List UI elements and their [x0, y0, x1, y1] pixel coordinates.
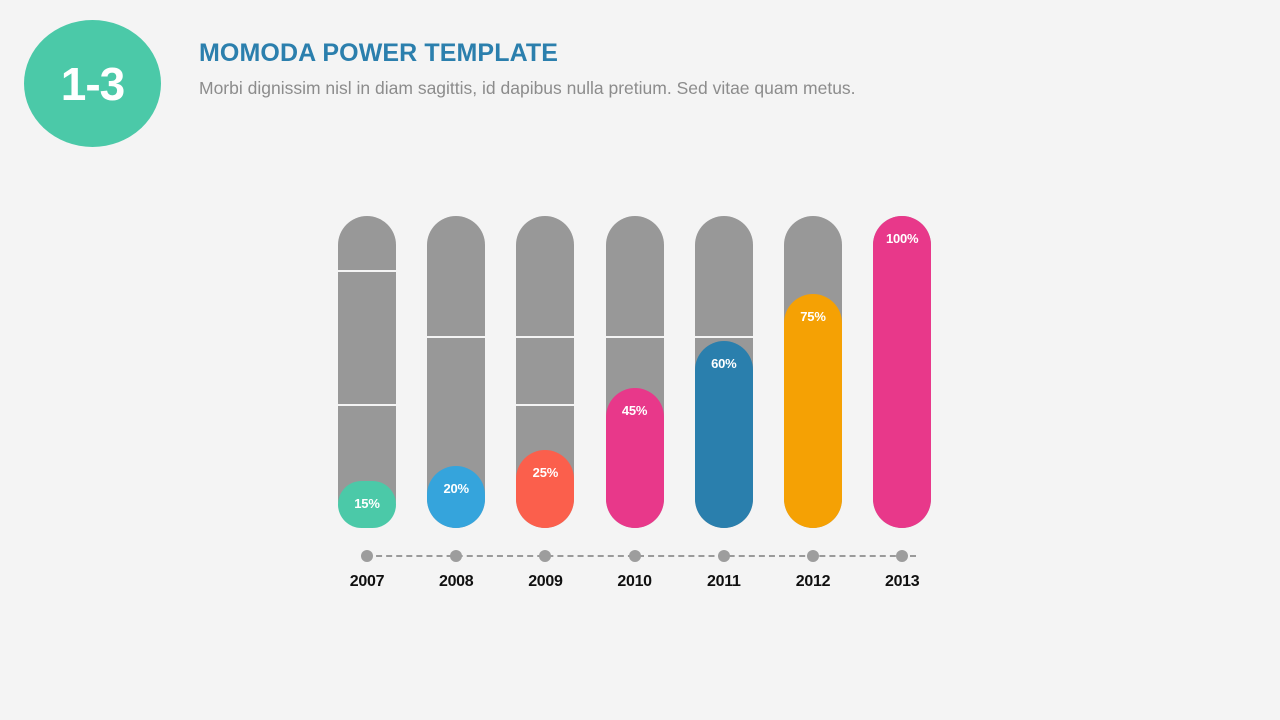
bar-track-divider: [695, 336, 753, 338]
bar-fill[interactable]: 25%: [516, 450, 574, 528]
timeline-year-label: 2012: [784, 574, 842, 590]
timeline-node-2008[interactable]: 2008: [427, 550, 485, 590]
timeline-year-label: 2009: [516, 574, 574, 590]
bar-fill[interactable]: 100%: [873, 216, 931, 528]
chart-column[interactable]: 75%: [784, 216, 842, 528]
timeline-year-label: 2011: [695, 574, 753, 590]
timeline-dot-icon: [629, 550, 641, 562]
bar-track-divider: [338, 404, 396, 406]
timeline-node-2007[interactable]: 2007: [338, 550, 396, 590]
page-title: MOMODA POWER TEMPLATE: [199, 40, 1239, 68]
bar-value-label: 15%: [354, 497, 379, 528]
page-subtitle: Morbi dignissim nisl in diam sagittis, i…: [199, 78, 1239, 99]
bar-value-label: 45%: [622, 404, 647, 528]
timeline-node-2010[interactable]: 2010: [606, 550, 664, 590]
bar-track-divider: [516, 336, 574, 338]
bar-value-label: 25%: [533, 466, 558, 528]
timeline-node-2012[interactable]: 2012: [784, 550, 842, 590]
bar-track-divider: [427, 336, 485, 338]
timeline-dot-icon: [361, 550, 373, 562]
timeline-dot-icon: [539, 550, 551, 562]
header: 1-3 MOMODA POWER TEMPLATE Morbi dignissi…: [0, 0, 1280, 170]
bar-fill[interactable]: 75%: [784, 294, 842, 528]
chart-column[interactable]: 15%: [338, 216, 396, 528]
timeline-year-label: 2007: [338, 574, 396, 590]
section-number-badge: 1-3: [24, 20, 161, 147]
bar-fill[interactable]: 20%: [427, 466, 485, 528]
bar-fill[interactable]: 15%: [338, 481, 396, 528]
bar-fill[interactable]: 60%: [695, 341, 753, 528]
bar-value-label: 20%: [443, 482, 468, 528]
bar-track-divider: [516, 404, 574, 406]
timeline-axis: 2007200820092010201120122013: [330, 550, 950, 600]
chart-column[interactable]: 60%: [695, 216, 753, 528]
timeline-node-2011[interactable]: 2011: [695, 550, 753, 590]
chart-column[interactable]: 20%: [427, 216, 485, 528]
progress-bar-chart: 15%20%25%45%60%75%100% 20072008200920102…: [330, 210, 950, 600]
timeline-year-label: 2010: [606, 574, 664, 590]
chart-column[interactable]: 25%: [516, 216, 574, 528]
timeline-node-2013[interactable]: 2013: [873, 550, 931, 590]
timeline-year-label: 2013: [873, 574, 931, 590]
timeline-dot-icon: [450, 550, 462, 562]
timeline-year-label: 2008: [427, 574, 485, 590]
timeline-dot-icon: [807, 550, 819, 562]
bar-value-label: 100%: [886, 232, 918, 528]
bar-track-divider: [606, 336, 664, 338]
bar-fill[interactable]: 45%: [606, 388, 664, 528]
bar-value-label: 75%: [800, 310, 825, 528]
timeline-node-2009[interactable]: 2009: [516, 550, 574, 590]
header-text-block: MOMODA POWER TEMPLATE Morbi dignissim ni…: [199, 40, 1239, 99]
bar-value-label: 60%: [711, 357, 736, 528]
chart-column[interactable]: 45%: [606, 216, 664, 528]
section-number-label: 1-3: [61, 61, 124, 107]
timeline-dot-icon: [896, 550, 908, 562]
timeline-dot-icon: [718, 550, 730, 562]
bar-track-divider: [338, 270, 396, 272]
chart-column[interactable]: 100%: [873, 216, 931, 528]
